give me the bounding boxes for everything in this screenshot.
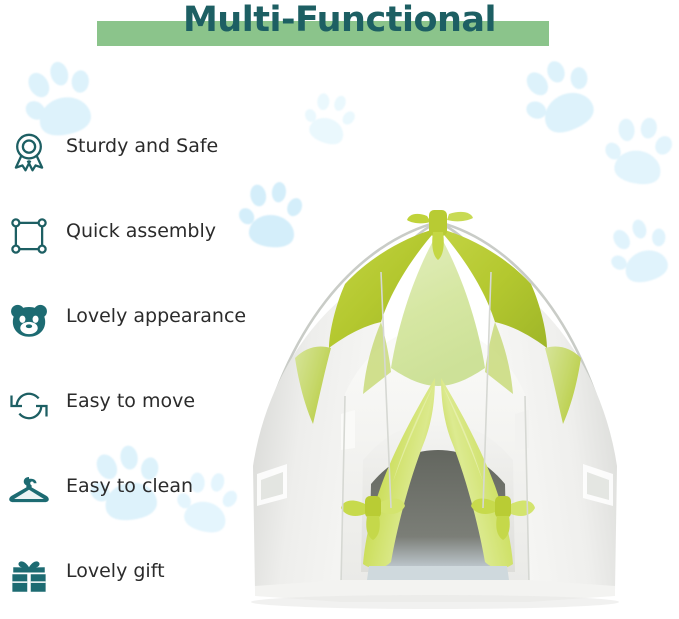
infographic-page: Multi-Functional Sturdy and Safe <box>0 0 679 619</box>
page-title: Multi-Functional <box>0 0 679 40</box>
feature-label: Easy to clean <box>66 475 193 497</box>
feature-label: Sturdy and Safe <box>66 135 218 157</box>
feature-label: Easy to move <box>66 390 195 412</box>
paw-print-icon <box>508 45 619 156</box>
paw-print-icon <box>594 109 679 202</box>
award-ribbon-icon <box>8 130 50 172</box>
paw-print-icon <box>292 84 369 161</box>
tent-ground-shadow <box>251 595 619 609</box>
pet-tent-photo <box>195 198 675 616</box>
feature-label: Quick assembly <box>66 220 216 242</box>
bear-face-icon <box>8 300 50 342</box>
tent-floor-edge <box>367 566 509 580</box>
refresh-arrows-icon <box>8 385 50 427</box>
clothes-hanger-icon <box>8 470 50 512</box>
gift-box-icon <box>8 555 50 597</box>
assembly-frame-icon <box>8 215 50 257</box>
feature-label: Lovely gift <box>66 560 165 582</box>
